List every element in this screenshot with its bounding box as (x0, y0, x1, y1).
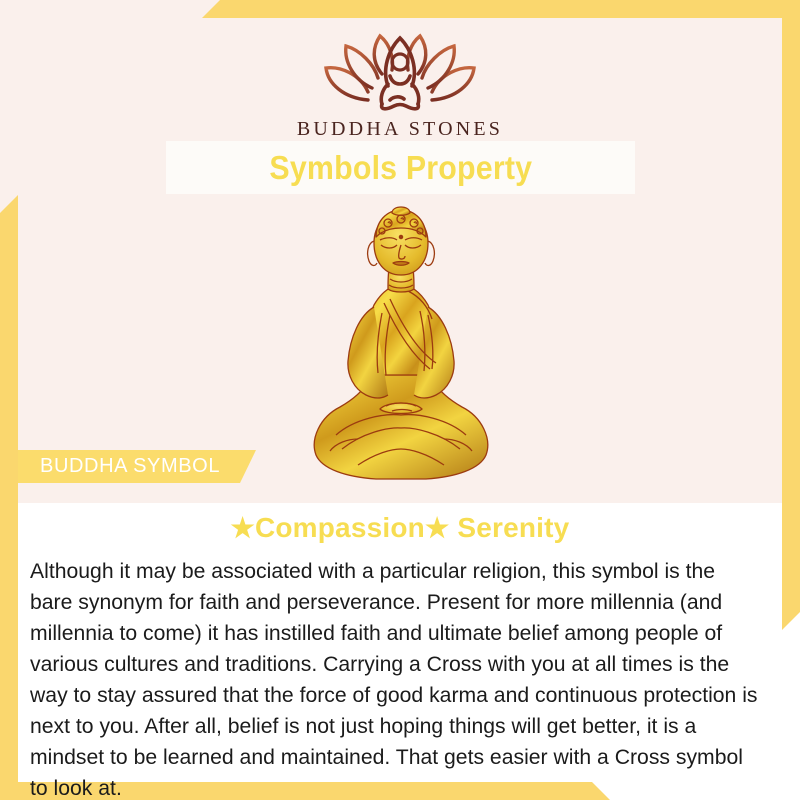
headline-word-one: Compassion (255, 512, 425, 543)
star-icon-left: ★ (231, 513, 255, 543)
brand-name: BUDDHA STONES (297, 118, 503, 141)
buddha-statue-icon (296, 203, 506, 491)
lotus-meditation-icon (310, 26, 490, 112)
page-title: Symbols Property (269, 149, 532, 187)
star-icon-right: ★ (425, 513, 449, 543)
golden-buddha-illustration (296, 203, 506, 491)
section-headline: ★Compassion★ Serenity (0, 512, 800, 544)
section-body-text: Although it may be associated with a par… (30, 556, 761, 800)
title-banner: Symbols Property (166, 141, 635, 194)
section-ribbon: BUDDHA SYMBOL (18, 450, 256, 483)
headline-word-two: Serenity (457, 512, 569, 543)
ribbon-label: BUDDHA SYMBOL (40, 455, 220, 478)
brand-logo: BUDDHA STONES (0, 26, 800, 141)
infographic-page: BUDDHA STONES Symbols Property (0, 0, 800, 800)
